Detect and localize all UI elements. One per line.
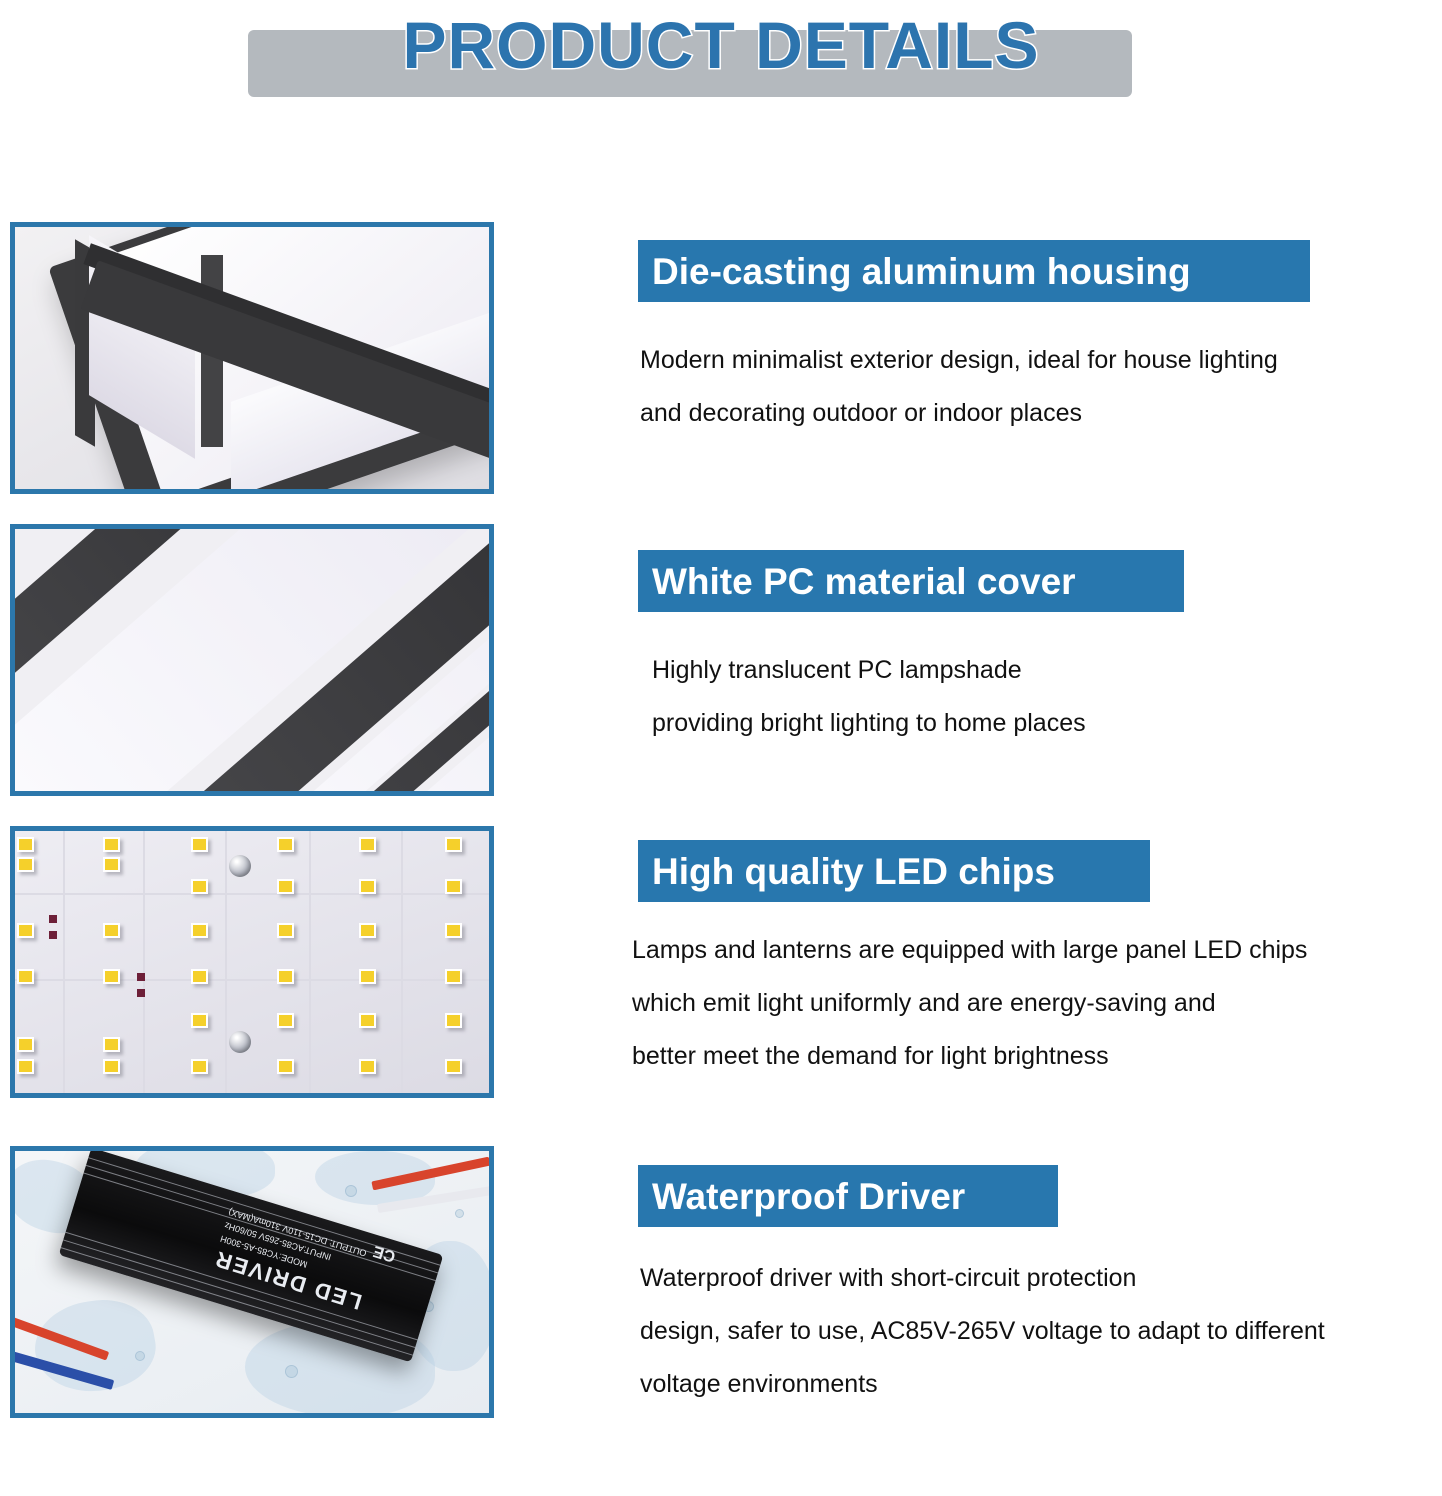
white-pc-cover-photo [10, 524, 494, 796]
feature-1-line-2: and decorating outdoor or indoor places [640, 387, 1278, 440]
feature-3-line-3: better meet the demand for light brightn… [632, 1030, 1307, 1083]
feature-row-1: Die-casting aluminum housing Modern mini… [0, 222, 1442, 504]
feature-1-body: Modern minimalist exterior design, ideal… [640, 334, 1278, 440]
feature-1-heading: Die-casting aluminum housing [652, 253, 1191, 290]
feature-row-2: White PC material cover Highly transluce… [0, 524, 1442, 806]
feature-row-4: OUTPUT: DC15-110V 310mA(MAX) INPUT:AC85-… [0, 1146, 1442, 1428]
feature-1-line-1: Modern minimalist exterior design, ideal… [640, 334, 1278, 387]
feature-3-body: Lamps and lanterns are equipped with lar… [632, 924, 1307, 1083]
feature-2-line-2: providing bright lighting to home places [652, 697, 1086, 750]
feature-4-line-3: voltage environments [640, 1358, 1325, 1411]
waterproof-driver-photo: OUTPUT: DC15-110V 310mA(MAX) INPUT:AC85-… [10, 1146, 494, 1418]
feature-4-heading: Waterproof Driver [652, 1178, 965, 1215]
led-chips-photo [10, 826, 494, 1098]
feature-1-heading-bar: Die-casting aluminum housing [638, 240, 1310, 302]
feature-4-heading-bar: Waterproof Driver [638, 1165, 1058, 1227]
feature-4-body: Waterproof driver with short-circuit pro… [640, 1252, 1325, 1411]
feature-3-line-1: Lamps and lanterns are equipped with lar… [632, 924, 1307, 977]
feature-3-heading-bar: High quality LED chips [638, 840, 1150, 902]
feature-3-heading: High quality LED chips [652, 853, 1055, 890]
feature-3-line-2: which emit light uniformly and are energ… [632, 977, 1307, 1030]
feature-2-heading: White PC material cover [652, 563, 1076, 600]
feature-2-heading-bar: White PC material cover [638, 550, 1184, 612]
feature-row-3: High quality LED chips Lamps and lantern… [0, 826, 1442, 1108]
page-title: PRODUCT DETAILS [0, 0, 1442, 90]
feature-4-line-2: design, safer to use, AC85V-265V voltage… [640, 1305, 1325, 1358]
product-details-page: PRODUCT DETAILS Die-casting aluminum hou… [0, 0, 1442, 1496]
feature-4-line-1: Waterproof driver with short-circuit pro… [640, 1252, 1325, 1305]
feature-2-body: Highly translucent PC lampshade providin… [652, 644, 1086, 750]
cut-off-bottom-content [140, 1486, 560, 1496]
die-casting-aluminum-housing-photo [10, 222, 494, 494]
feature-2-line-1: Highly translucent PC lampshade [652, 644, 1086, 697]
